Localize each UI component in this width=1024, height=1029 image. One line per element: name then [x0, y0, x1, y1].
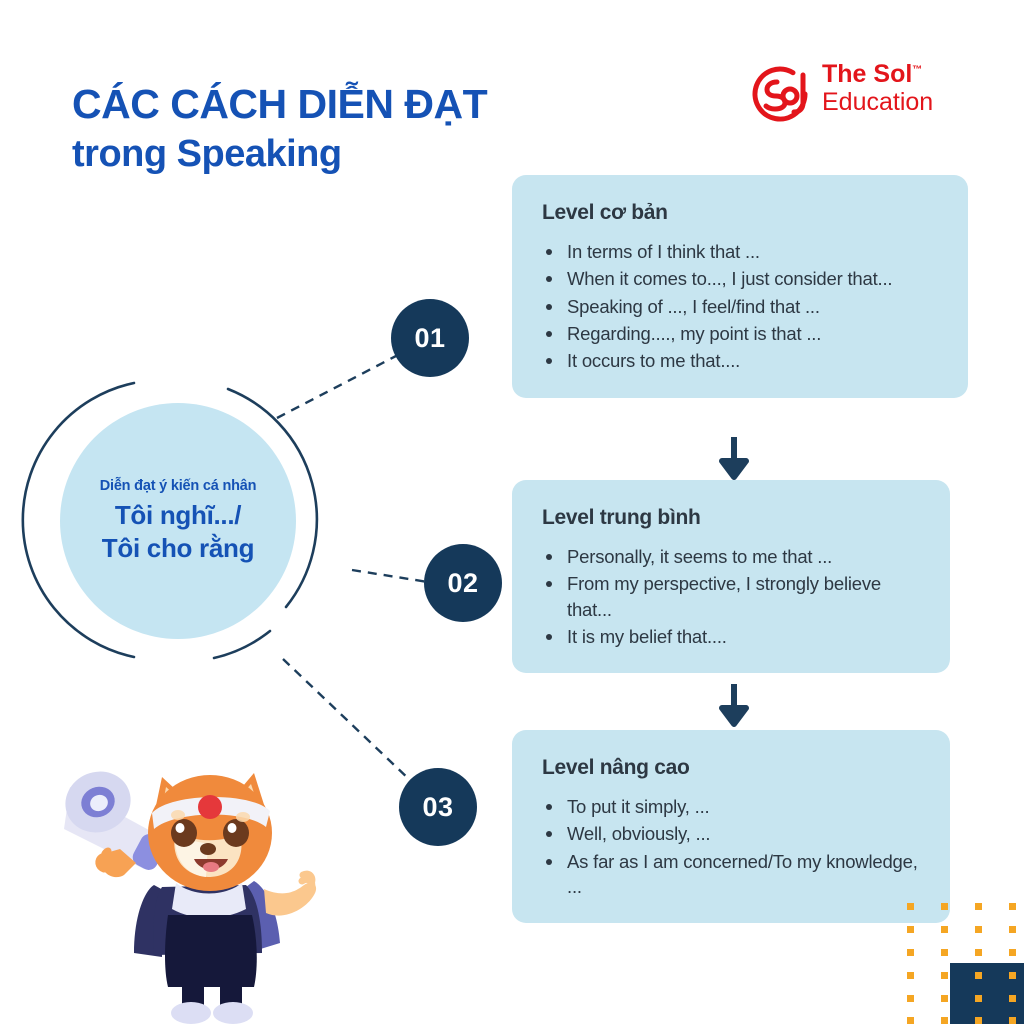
hub-label: Diễn đạt ý kiến cá nhân Tôi nghĩ.../ Tôi… [60, 403, 296, 639]
hub-circle: Diễn đạt ý kiến cá nhân Tôi nghĩ.../ Tôi… [18, 375, 362, 665]
list-item: Well, obviously, ... [542, 821, 926, 846]
connector-line-02 [352, 570, 428, 582]
step-badge-03[interactable]: 03 [399, 768, 477, 846]
list-item: Personally, it seems to me that ... [542, 544, 926, 569]
page-title: CÁC CÁCH DIỄN ĐẠT trong Speaking [72, 78, 542, 179]
list-item: It is my belief that.... [542, 624, 926, 649]
brand-line-2: Education [822, 88, 933, 116]
shiba-mascot-with-megaphone [58, 757, 348, 1024]
hub-heading-line-2: Tôi cho rằng [102, 532, 254, 564]
level-card-intermediate: Level trung bình Personally, it seems to… [512, 480, 950, 673]
hub-subtitle: Diễn đạt ý kiến cá nhân [100, 478, 257, 494]
list-item: Regarding...., my point is that ... [542, 321, 944, 346]
trademark-symbol: ™ [912, 65, 922, 76]
level-card-basic: Level cơ bản In terms of I think that ..… [512, 175, 968, 398]
card-list: To put it simply, ... Well, obviously, .… [542, 794, 926, 899]
brand-line-1: The Sol [822, 60, 912, 88]
list-item: Speaking of ..., I feel/find that ... [542, 294, 944, 319]
brand-name: The Sol™ Education [822, 60, 933, 116]
sol-circle-icon [748, 62, 812, 126]
list-item: To put it simply, ... [542, 794, 926, 819]
card-list: In terms of I think that ... When it com… [542, 239, 944, 374]
card-heading: Level cơ bản [542, 201, 944, 225]
level-card-advanced: Level nâng cao To put it simply, ... Wel… [512, 730, 950, 923]
step-badge-02[interactable]: 02 [424, 544, 502, 622]
step-badge-01[interactable]: 01 [391, 299, 469, 377]
hub-heading-line-1: Tôi nghĩ.../ [115, 499, 241, 531]
list-item: In terms of I think that ... [542, 239, 944, 264]
list-item: As far as I am concerned/To my knowledge… [542, 849, 926, 900]
list-item: It occurs to me that.... [542, 348, 944, 373]
list-item: When it comes to..., I just consider tha… [542, 266, 944, 291]
card-heading: Level trung bình [542, 506, 926, 530]
card-list: Personally, it seems to me that ... From… [542, 544, 926, 649]
page-title-line-2: trong Speaking [72, 130, 542, 179]
card-heading: Level nâng cao [542, 756, 926, 780]
page-title-line-1: CÁC CÁCH DIỄN ĐẠT [72, 78, 542, 130]
brand-logo: The Sol™ Education [748, 58, 974, 130]
arrow-down-icon [717, 684, 751, 730]
arrow-down-icon [717, 437, 751, 483]
list-item: From my perspective, I strongly believe … [542, 571, 926, 622]
decorative-dot-grid [907, 903, 1024, 1024]
